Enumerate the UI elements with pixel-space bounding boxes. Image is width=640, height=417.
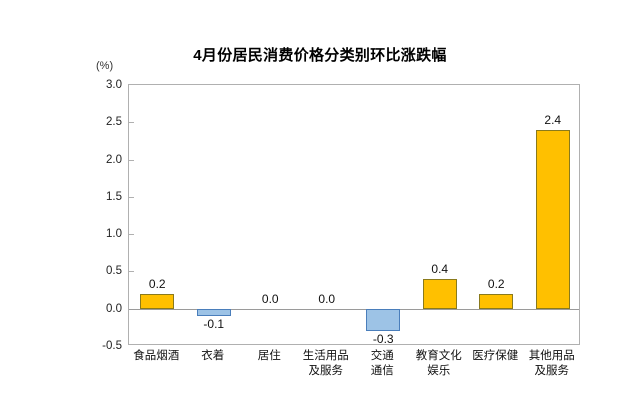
y-tick-label: 2.5 <box>106 116 122 128</box>
y-tick-label: 0.0 <box>106 303 122 315</box>
x-category-label: 食品烟酒 <box>133 349 179 364</box>
bar-value-label: 0.2 <box>488 277 505 291</box>
y-tick-mark <box>129 160 134 161</box>
y-tick-label: 0.5 <box>106 265 122 277</box>
x-category-label-line: 交通 <box>371 349 394 364</box>
y-tick-mark <box>129 234 134 235</box>
bar-value-label: 0.4 <box>431 262 448 276</box>
bar-value-label: -0.3 <box>373 332 394 346</box>
y-tick-mark <box>129 122 134 123</box>
x-category-label-line: 食品烟酒 <box>133 349 179 364</box>
bar-value-label: 0.0 <box>318 292 335 306</box>
x-category-label: 衣着 <box>201 349 224 364</box>
x-category-label: 教育文化娱乐 <box>416 349 462 379</box>
x-category-label-line: 娱乐 <box>416 364 462 379</box>
x-category-label: 居住 <box>258 349 281 364</box>
x-category-label-line: 及服务 <box>303 364 349 379</box>
y-tick-mark <box>129 271 134 272</box>
x-category-label: 生活用品及服务 <box>303 349 349 379</box>
bar <box>423 279 457 309</box>
y-tick-label: 1.5 <box>106 191 122 203</box>
x-category-label-line: 其他用品 <box>529 349 575 364</box>
x-category-label-line: 教育文化 <box>416 349 462 364</box>
x-category-label-line: 及服务 <box>529 364 575 379</box>
bar-value-label: 0.2 <box>149 277 166 291</box>
y-tick-mark <box>129 197 134 198</box>
plot-area: 3.02.52.01.51.00.50.0-0.5 0.2-0.10.00.0-… <box>128 84 580 345</box>
chart-figure: 4月份居民消费价格分类别环比涨跌幅 (%) 3.02.52.01.51.00.5… <box>0 0 640 417</box>
bar <box>536 130 570 309</box>
bar-value-label: 0.0 <box>262 292 279 306</box>
y-tick-label: 2.0 <box>106 154 122 166</box>
x-category-label-line: 生活用品 <box>303 349 349 364</box>
x-category-label: 医疗保健 <box>472 349 518 364</box>
y-axis-unit-label: (%) <box>96 60 113 72</box>
y-tick-label: 3.0 <box>106 79 122 91</box>
x-category-label: 交通通信 <box>371 349 394 379</box>
y-tick-label: 1.0 <box>106 228 122 240</box>
bar <box>140 294 174 309</box>
x-category-label-line: 通信 <box>371 364 394 379</box>
bar-value-label: -0.1 <box>203 317 224 331</box>
bar <box>366 309 400 331</box>
bar-value-label: 2.4 <box>544 113 561 127</box>
bar <box>197 309 231 316</box>
x-category-label-line: 居住 <box>258 349 281 364</box>
bar <box>479 294 513 309</box>
x-category-label-line: 衣着 <box>201 349 224 364</box>
x-category-label: 其他用品及服务 <box>529 349 575 379</box>
y-tick-label: -0.5 <box>102 340 122 352</box>
x-category-label-line: 医疗保健 <box>472 349 518 364</box>
